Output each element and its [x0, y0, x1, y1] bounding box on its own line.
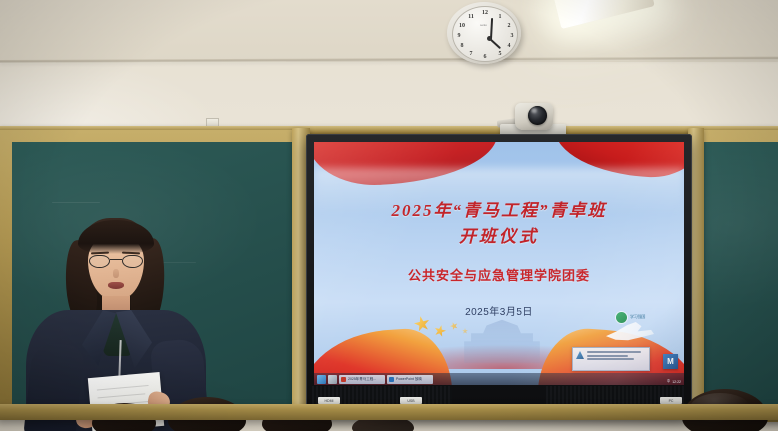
file-explorer-icon[interactable] — [328, 375, 337, 384]
presenter — [20, 214, 210, 431]
slide-logo-text: 学习强国 — [630, 315, 645, 320]
windows-taskbar[interactable]: 2025年青马工程... PowerPoint 放映 中 12:22 — [314, 373, 684, 385]
slide-title-line1: 2025年“青马工程”青卓班 — [314, 196, 684, 221]
ime-indicator[interactable]: 中 — [667, 379, 671, 384]
wall-clock: 12 1 2 3 4 5 6 7 8 9 10 11 seiko — [447, 2, 521, 64]
presenter-glasses-icon — [89, 255, 143, 268]
taskbar-window-label: 2025年青马工程... — [348, 377, 376, 382]
display-screen[interactable]: 2025年“青马工程”青卓班 开班仪式 公共安全与应急管理学院团委 2025年3… — [314, 142, 684, 385]
slide-logo-mark-icon — [616, 312, 627, 323]
powerpoint-icon — [341, 377, 346, 382]
start-button-icon[interactable] — [317, 375, 326, 384]
windows-activation-toast[interactable] — [572, 347, 650, 371]
clock-numeral: 5 — [496, 50, 504, 58]
clock-numeral: 1 — [496, 13, 504, 21]
clock-numeral: 2 — [505, 22, 513, 30]
clock-numeral: 12 — [481, 9, 489, 17]
clock-numeral: 10 — [457, 22, 467, 30]
clock-numeral: 4 — [505, 42, 513, 50]
presenter-fringe — [78, 220, 154, 254]
taskbar-clock[interactable]: 12:22 — [672, 380, 681, 384]
upper-wall — [0, 0, 778, 62]
system-tray[interactable]: 中 12:22 — [667, 379, 681, 384]
clock-numeral: 8 — [458, 42, 466, 50]
slide-landmark-silhouette — [459, 315, 545, 363]
classroom-photo-scene: 12 1 2 3 4 5 6 7 8 9 10 11 seiko — [0, 0, 778, 431]
taskbar-window-button[interactable]: 2025年青马工程... — [339, 375, 385, 384]
toast-text-lines — [587, 351, 646, 367]
clock-numeral: 6 — [481, 53, 489, 61]
slide-org-logo: 学习强国 — [616, 310, 658, 324]
chalk-tray-ledge — [0, 404, 778, 420]
taskbar-window-button[interactable]: PowerPoint 放映 — [387, 375, 433, 384]
clock-brand-text: seiko — [480, 23, 487, 27]
clock-center-cap — [487, 36, 492, 41]
port-label-pc: PC — [660, 397, 682, 404]
presenter-nose — [113, 269, 119, 278]
clock-numeral: 11 — [466, 13, 476, 21]
port-label-hdmi: HDMI — [318, 397, 340, 404]
glasses-lens-left — [89, 255, 110, 268]
slide-title-line2: 开班仪式 — [314, 222, 684, 247]
app-badge-icon[interactable]: M — [663, 354, 678, 369]
clock-numeral: 9 — [455, 32, 463, 40]
taskbar-window-label: PowerPoint 放映 — [396, 377, 422, 382]
clock-face: 12 1 2 3 4 5 6 7 8 9 10 11 seiko — [452, 6, 518, 62]
slide-subtitle: 公共安全与应急管理学院团委 — [314, 265, 684, 284]
camera-lens-highlight — [531, 108, 537, 113]
presenter-mouth — [108, 282, 124, 289]
slideshow-icon — [389, 377, 394, 382]
right-chalkboard — [704, 142, 778, 416]
glasses-lens-right — [122, 255, 143, 268]
glasses-bridge — [110, 259, 122, 260]
port-label-usb: USB — [400, 397, 422, 404]
warning-icon — [576, 351, 584, 359]
clock-numeral: 7 — [467, 50, 475, 58]
clock-numeral: 3 — [508, 32, 516, 40]
